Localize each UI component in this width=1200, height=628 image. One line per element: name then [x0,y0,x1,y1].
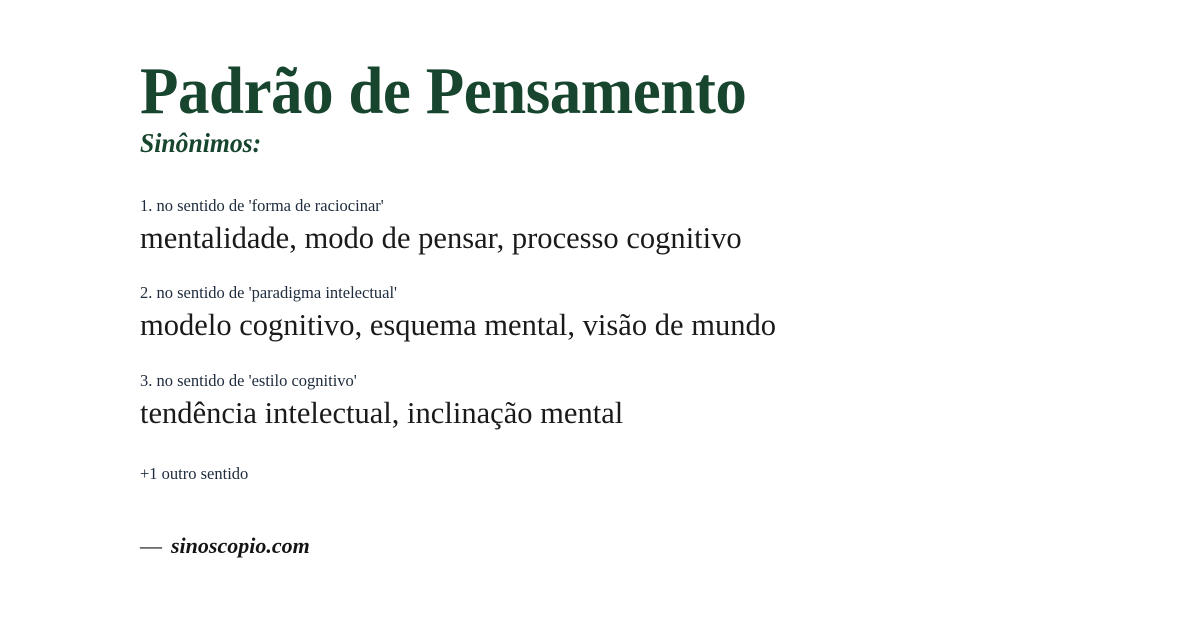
sense-synonyms: modelo cognitivo, esquema mental, visão … [140,306,1145,344]
subtitle-synonyms-label: Sinônimos: [140,129,1090,157]
card-header: Padrão de Pensamento Sinônimos: [140,58,1140,157]
sense-label: 2. no sentido de 'paradigma intelectual' [140,283,1160,304]
more-senses-note: +1 outro sentido [140,464,248,485]
sense-synonyms: tendência intelectual, inclinação mental [140,394,1145,432]
footer-attribution: — sinoscopio.com [140,533,310,559]
sense-block: 3. no sentido de 'estilo cognitivo' tend… [140,371,1160,431]
sense-block: 1. no sentido de 'forma de raciocinar' m… [140,196,1160,256]
page-title: Padrão de Pensamento [140,58,1080,125]
sense-synonyms: mentalidade, modo de pensar, processo co… [140,219,1145,257]
sense-block: 2. no sentido de 'paradigma intelectual'… [140,283,1160,343]
sense-label: 1. no sentido de 'forma de raciocinar' [140,196,1160,217]
senses-list: 1. no sentido de 'forma de raciocinar' m… [140,196,1160,431]
em-dash-icon: — [140,533,162,559]
sense-label: 3. no sentido de 'estilo cognitivo' [140,371,1160,392]
source-name: sinoscopio.com [171,533,310,559]
synonym-card: Padrão de Pensamento Sinônimos: 1. no se… [0,0,1200,628]
